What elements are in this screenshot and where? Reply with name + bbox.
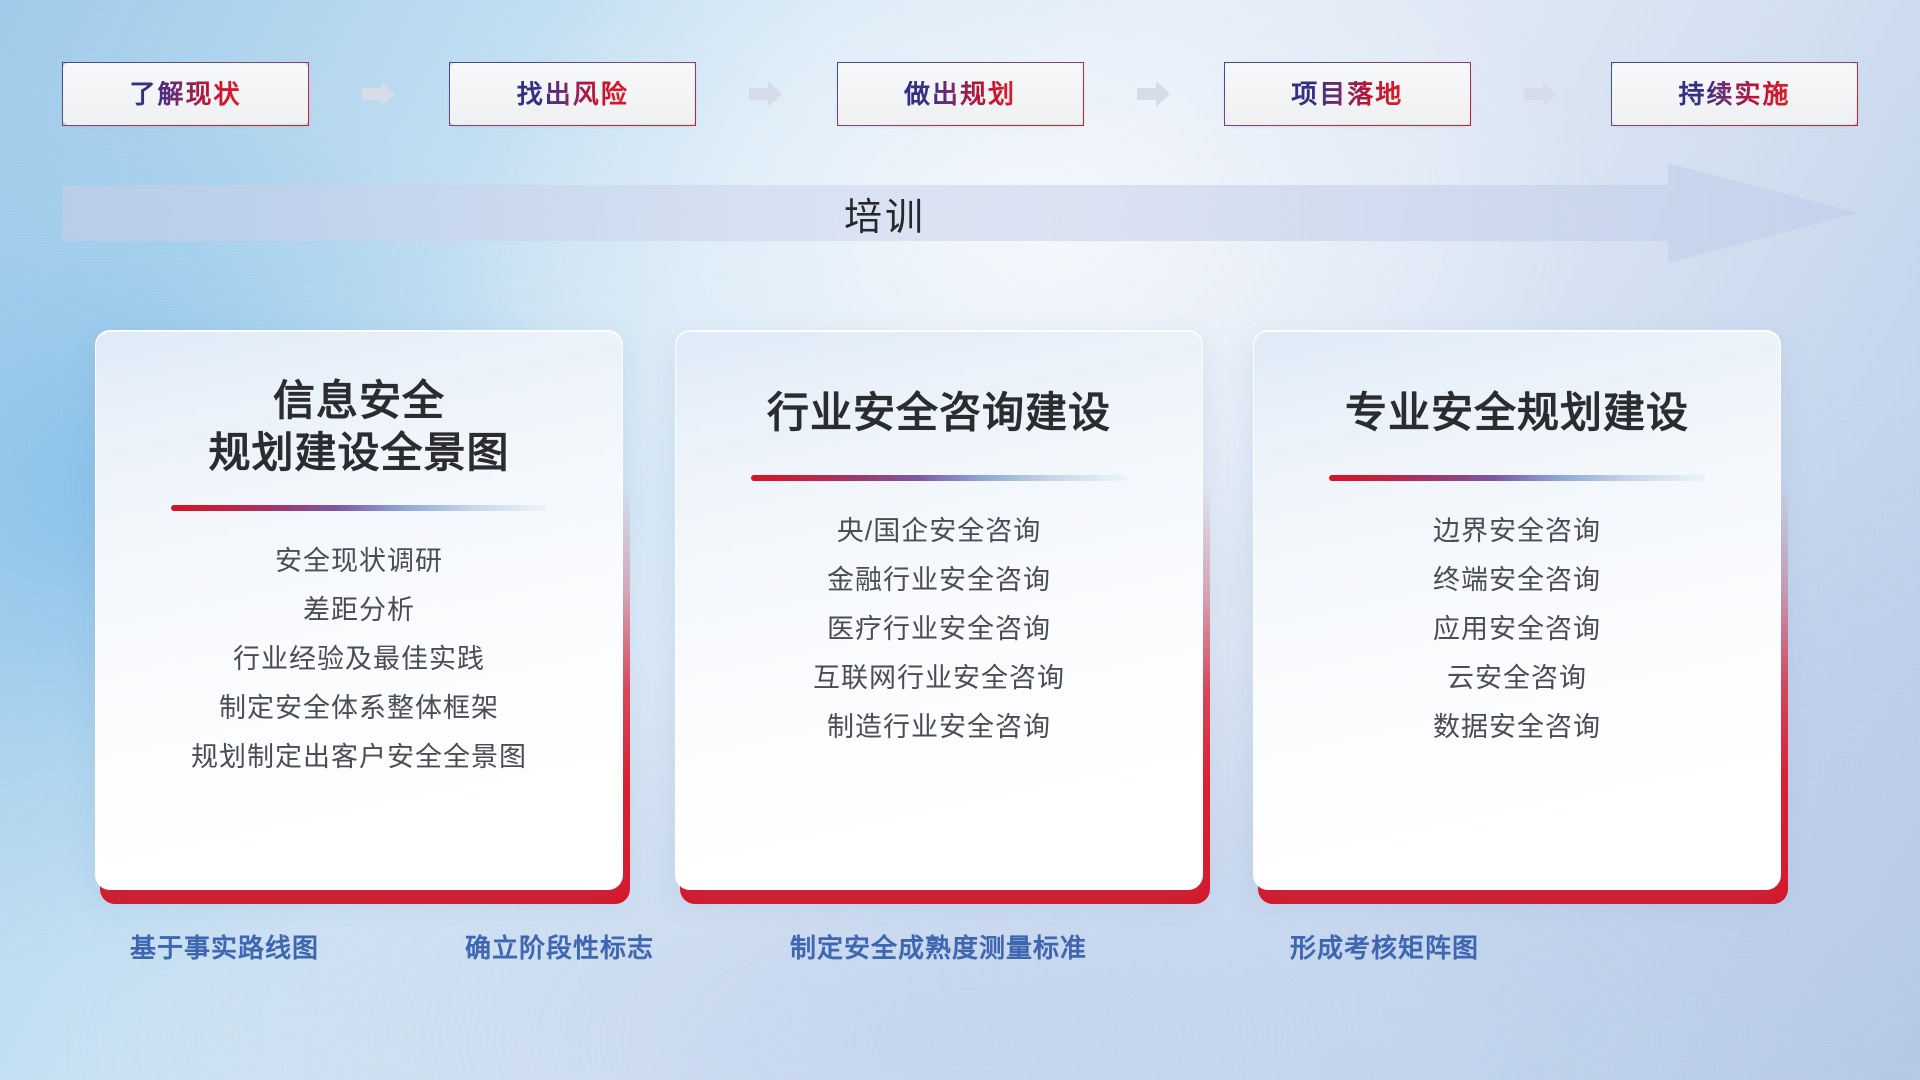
- process-step-1-label: 了解现状: [129, 81, 241, 107]
- card-group: 信息安全 规划建设全景图 安全现状调研 差距分析 行业经验及最佳实践 制定安全体…: [95, 330, 1825, 890]
- card-title: 行业安全咨询建设: [676, 387, 1202, 439]
- list-item: 差距分析: [96, 586, 622, 635]
- arrow-right-icon: [749, 79, 783, 109]
- arrow-right-icon: [1137, 79, 1171, 109]
- process-step-3-label: 做出规划: [904, 81, 1016, 107]
- list-item: 央/国企安全咨询: [676, 507, 1202, 556]
- footer-label-3: 制定安全成熟度测量标准: [790, 925, 1087, 971]
- process-step-4-label: 项目落地: [1291, 81, 1403, 107]
- process-step-3[interactable]: 做出规划: [837, 62, 1084, 126]
- footer-label-1: 基于事实路线图: [130, 925, 319, 971]
- footer-label-row: 基于事实路线图 确立阶段性标志 制定安全成熟度测量标准 形成考核矩阵图: [0, 925, 1920, 971]
- arrow-right-icon: [1524, 79, 1558, 109]
- process-step-2-label: 找出风险: [517, 81, 629, 107]
- card-item-list: 边界安全咨询 终端安全咨询 应用安全咨询 云安全咨询 数据安全咨询: [1254, 507, 1780, 752]
- process-step-5[interactable]: 持续实施: [1611, 62, 1858, 126]
- card-item-list: 安全现状调研 差距分析 行业经验及最佳实践 制定安全体系整体框架 规划制定出客户…: [96, 537, 622, 782]
- training-banner: 培训: [62, 163, 1858, 263]
- list-item: 边界安全咨询: [1254, 507, 1780, 556]
- card-surface: 信息安全 规划建设全景图 安全现状调研 差距分析 行业经验及最佳实践 制定安全体…: [95, 330, 623, 890]
- card-title: 信息安全 规划建设全景图: [96, 375, 622, 479]
- list-item: 行业经验及最佳实践: [96, 635, 622, 684]
- process-step-5-label: 持续实施: [1678, 81, 1790, 107]
- card-information-security-blueprint[interactable]: 信息安全 规划建设全景图 安全现状调研 差距分析 行业经验及最佳实践 制定安全体…: [95, 330, 623, 890]
- card-professional-security-planning[interactable]: 专业安全规划建设 边界安全咨询 终端安全咨询 应用安全咨询 云安全咨询 数据安全…: [1253, 330, 1781, 890]
- list-item: 数据安全咨询: [1254, 703, 1780, 752]
- footer-label-4: 形成考核矩阵图: [1290, 925, 1479, 971]
- card-divider: [171, 505, 547, 511]
- card-item-list: 央/国企安全咨询 金融行业安全咨询 医疗行业安全咨询 互联网行业安全咨询 制造行…: [676, 507, 1202, 752]
- list-item: 医疗行业安全咨询: [676, 605, 1202, 654]
- list-item: 制定安全体系整体框架: [96, 684, 622, 733]
- list-item: 金融行业安全咨询: [676, 556, 1202, 605]
- card-divider: [751, 475, 1127, 481]
- process-step-2[interactable]: 找出风险: [449, 62, 696, 126]
- process-step-1[interactable]: 了解现状: [62, 62, 309, 126]
- card-title: 专业安全规划建设: [1254, 387, 1780, 439]
- list-item: 规划制定出客户安全全景图: [96, 733, 622, 782]
- list-item: 应用安全咨询: [1254, 605, 1780, 654]
- card-surface: 专业安全规划建设 边界安全咨询 终端安全咨询 应用安全咨询 云安全咨询 数据安全…: [1253, 330, 1781, 890]
- card-industry-security-consulting[interactable]: 行业安全咨询建设 央/国企安全咨询 金融行业安全咨询 医疗行业安全咨询 互联网行…: [675, 330, 1203, 890]
- list-item: 终端安全咨询: [1254, 556, 1780, 605]
- footer-label-2: 确立阶段性标志: [465, 925, 654, 971]
- process-step-row: 了解现状 找出风险 做出规划 项目落地 持续实施: [62, 62, 1858, 126]
- process-step-4[interactable]: 项目落地: [1224, 62, 1471, 126]
- list-item: 制造行业安全咨询: [676, 703, 1202, 752]
- card-surface: 行业安全咨询建设 央/国企安全咨询 金融行业安全咨询 医疗行业安全咨询 互联网行…: [675, 330, 1203, 890]
- list-item: 互联网行业安全咨询: [676, 654, 1202, 703]
- training-banner-label: 培训: [62, 163, 1858, 263]
- list-item: 云安全咨询: [1254, 654, 1780, 703]
- list-item: 安全现状调研: [96, 537, 622, 586]
- card-divider: [1329, 475, 1705, 481]
- arrow-right-icon: [362, 79, 396, 109]
